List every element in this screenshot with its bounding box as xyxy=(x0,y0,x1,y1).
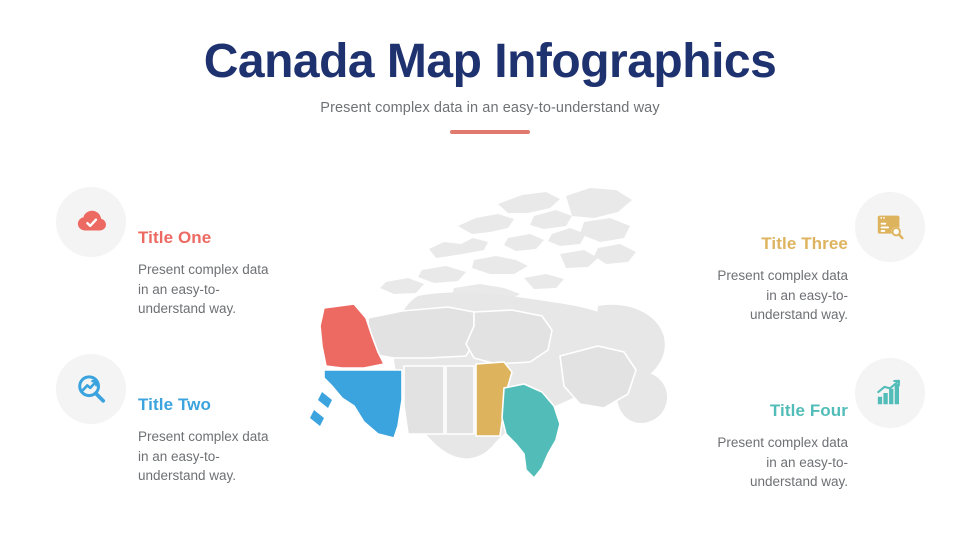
feature-description-four: Present complex data in an easy-to- unde… xyxy=(672,433,848,490)
infographic-slide: Canada Map Infographics Present complex … xyxy=(0,0,980,551)
feature-description-two: Present complex data in an easy-to- unde… xyxy=(138,427,398,484)
feature-title-four: Title Four xyxy=(672,401,848,421)
feature-title-three: Title Three xyxy=(672,234,848,254)
feature-block-four: Title Four Present complex data in an ea… xyxy=(672,401,848,491)
web-audit-icon xyxy=(875,212,905,242)
page-subtitle: Present complex data in an easy-to-under… xyxy=(0,100,980,116)
feature-title-one: Title One xyxy=(138,228,398,248)
map-arctic-islands xyxy=(380,188,636,304)
feature-block-one: Title One Present complex data in an eas… xyxy=(138,228,398,318)
province-alberta xyxy=(404,366,444,434)
header: Canada Map Infographics Present complex … xyxy=(0,36,980,134)
search-trend-icon xyxy=(76,374,106,404)
feature-icon-circle-four[interactable] xyxy=(855,358,925,428)
feature-block-three: Title Three Present complex data in an e… xyxy=(672,234,848,324)
title-underline-accent xyxy=(450,130,530,134)
cloud-check-icon xyxy=(76,207,106,237)
province-saskatchewan xyxy=(446,366,474,434)
feature-description-three: Present complex data in an easy-to- unde… xyxy=(672,266,848,323)
feature-icon-circle-three[interactable] xyxy=(855,192,925,262)
province-nunavut xyxy=(466,310,552,364)
feature-icon-circle-one[interactable] xyxy=(56,187,126,257)
page-title: Canada Map Infographics xyxy=(0,36,980,88)
feature-block-two: Title Two Present complex data in an eas… xyxy=(138,395,398,485)
feature-title-two: Title Two xyxy=(138,395,398,415)
bar-chart-growth-icon xyxy=(875,378,905,408)
feature-icon-circle-two[interactable] xyxy=(56,354,126,424)
feature-description-one: Present complex data in an easy-to- unde… xyxy=(138,260,398,317)
